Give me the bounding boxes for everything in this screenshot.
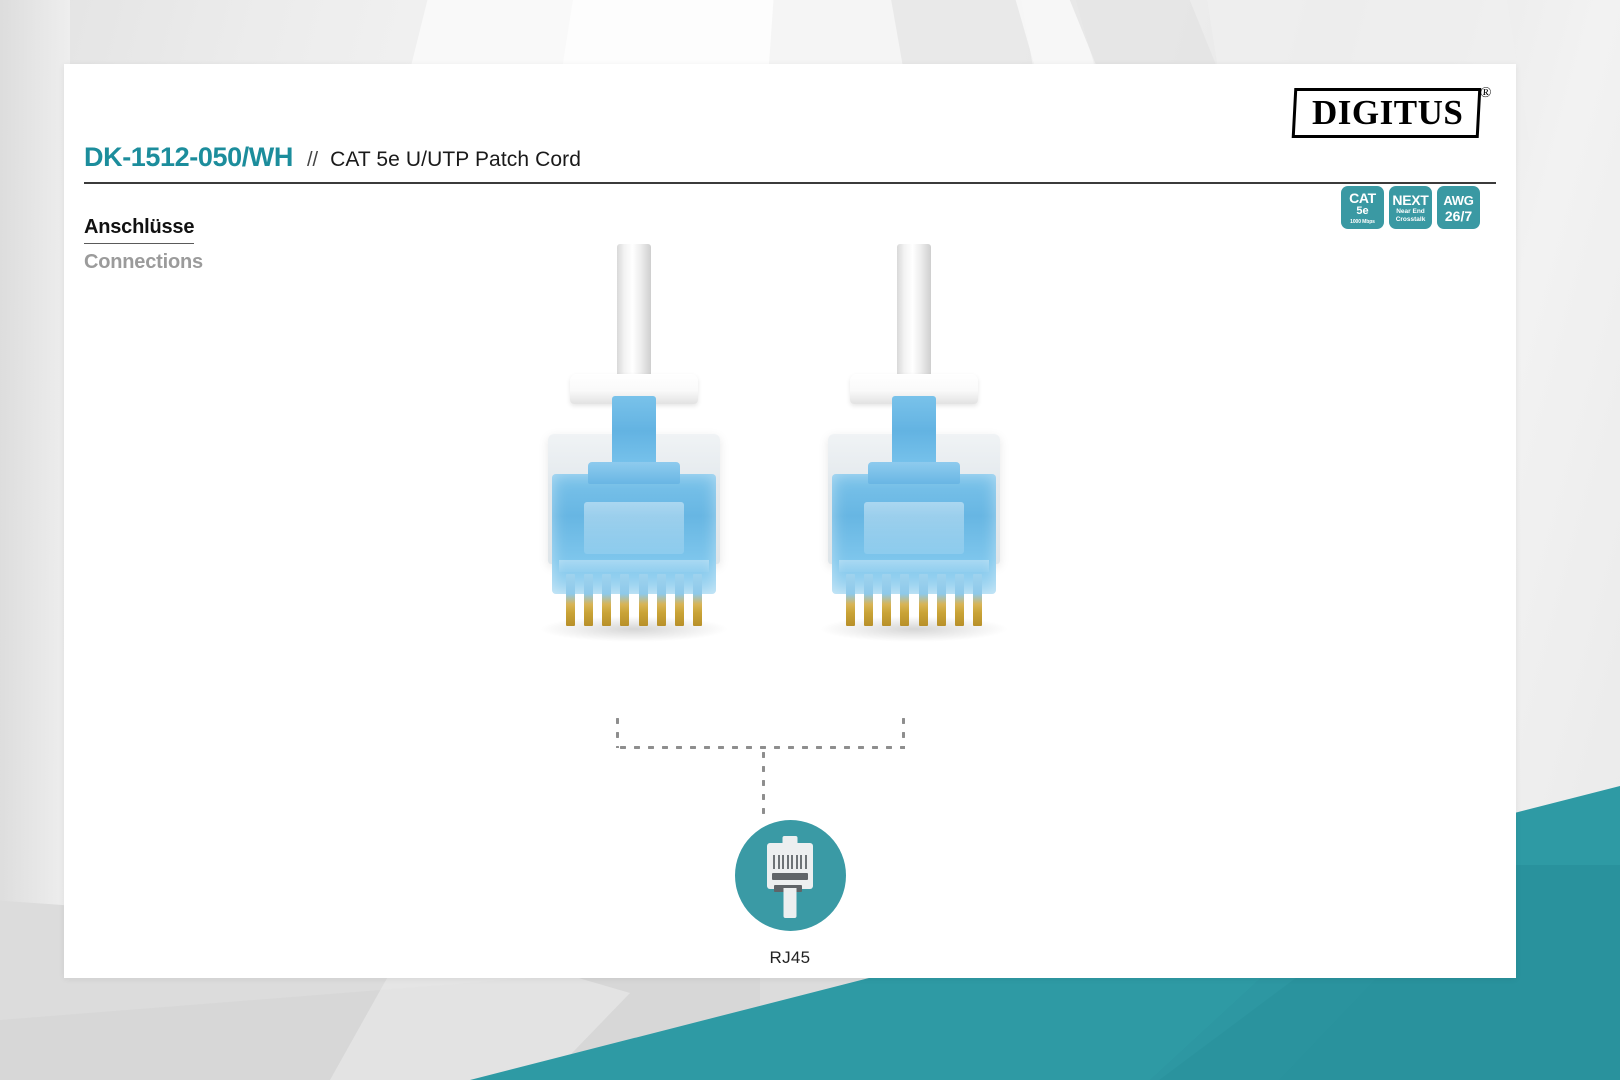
plug-latch-tab: [588, 462, 680, 484]
plug-window: [864, 502, 964, 554]
next-badge: NEXT Near End Crosstalk: [1389, 186, 1432, 229]
logo-wordmark: DIGITUS: [1312, 95, 1463, 130]
rj45-icon-bar-1: [772, 873, 808, 880]
section-heading-de: Anschlüsse: [84, 216, 194, 244]
rj45-callout: RJ45: [64, 820, 1516, 968]
plug-latch-tab: [868, 462, 960, 484]
logo-frame: DIGITUS ®: [1291, 88, 1481, 138]
awg-badge-line2: 26/7: [1445, 209, 1472, 223]
connector-line-horizontal: [616, 746, 905, 749]
plug-contact-pins: [566, 574, 702, 626]
plug-band: [559, 560, 709, 572]
cat-badge: CAT 5e 1000 Mbps: [1341, 186, 1384, 229]
rj45-icon-glyph: [767, 836, 813, 916]
page-root: DIGITUS ® DK-1512-050/WH // CAT 5e U/UTP…: [0, 0, 1620, 1080]
plug-band: [839, 560, 989, 572]
content-card: DIGITUS ® DK-1512-050/WH // CAT 5e U/UTP…: [64, 64, 1516, 978]
title-divider: [84, 182, 1496, 184]
plug-window: [584, 502, 684, 554]
rj45-icon-cord: [784, 888, 797, 918]
connector-line-down: [762, 748, 765, 820]
cable-jacket: [617, 244, 651, 394]
rj45-label: RJ45: [770, 948, 811, 968]
product-sku: DK-1512-050/WH: [84, 142, 293, 173]
cat-badge-line1: CAT: [1349, 191, 1376, 205]
plug-contact-pins: [846, 574, 982, 626]
awg-badge: AWG 26/7: [1437, 186, 1480, 229]
next-badge-line2: Near End: [1396, 209, 1425, 216]
rj45-plug-right: [799, 244, 1029, 664]
cat-badge-line3: 1000 Mbps: [1350, 220, 1375, 225]
product-description: CAT 5e U/UTP Patch Cord: [330, 148, 581, 172]
registered-trademark-icon: ®: [1479, 85, 1491, 102]
connections-diagram: RJ45: [64, 244, 1516, 974]
next-badge-line3: Crosstalk: [1396, 217, 1426, 224]
rj45-icon-contacts: [773, 855, 807, 869]
spec-badge-group: CAT 5e 1000 Mbps NEXT Near End Crosstalk…: [1341, 186, 1480, 229]
connector-line-right: [902, 714, 905, 748]
next-badge-line1: NEXT: [1392, 193, 1428, 207]
cable-jacket: [897, 244, 931, 394]
awg-badge-line1: AWG: [1443, 194, 1473, 207]
rj45-icon-head: [767, 843, 813, 889]
rj45-plug-icon: [735, 820, 846, 931]
connector-line-left: [616, 714, 619, 748]
cat-badge-line2: 5e: [1356, 206, 1368, 217]
title-separator: //: [307, 149, 318, 172]
rj45-plug-left: [519, 244, 749, 664]
digitus-logo: DIGITUS ®: [1293, 88, 1480, 138]
product-title-row: DK-1512-050/WH // CAT 5e U/UTP Patch Cor…: [84, 142, 1496, 179]
